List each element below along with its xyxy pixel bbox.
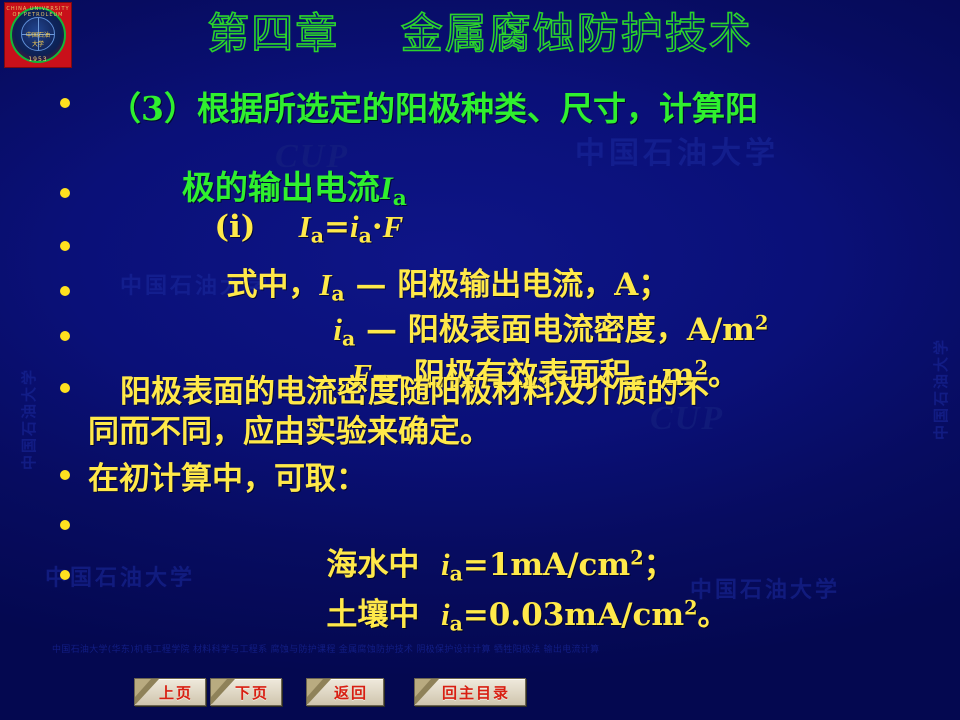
bullet-marker — [60, 383, 70, 393]
bullet-marker — [60, 286, 70, 296]
prev-page-label: 上页 — [135, 679, 205, 705]
superscript-2: 2 — [755, 311, 768, 334]
prev-page-button[interactable]: 上页 — [134, 678, 206, 706]
back-label: 返回 — [307, 679, 383, 705]
slide-canvas: 中国石油大学 CUP CUP 中国石油大学 中国石油大学 中国石油大学 中国石油… — [0, 0, 960, 720]
bullet-marker — [60, 570, 70, 580]
main-menu-button[interactable]: 回主目录 — [414, 678, 526, 706]
main-menu-label: 回主目录 — [415, 679, 525, 705]
bullet-9-prefix: 土壤中 — [326, 597, 441, 633]
superscript-2: 2 — [684, 596, 697, 619]
bullet-marker — [60, 241, 70, 251]
bullet-marker — [60, 470, 70, 480]
next-page-button[interactable]: 下页 — [210, 678, 282, 706]
bullet-marker — [60, 188, 70, 198]
back-button[interactable]: 返回 — [306, 678, 384, 706]
bullet-9-value: =0.03mA/cm — [463, 597, 684, 633]
bullet-7-line: 在初计算中，可取： — [88, 453, 367, 498]
watermark-text-vertical: 中国石油大学 — [930, 338, 951, 440]
bullet-9-tail: 。 — [698, 597, 729, 633]
bullet-5-tail: 。 — [708, 357, 739, 393]
watermark-text: 中国石油大学 — [575, 128, 779, 172]
watermark-text-vertical: 中国石油大学 — [18, 368, 39, 470]
bullet-6-line-2: 同而不同，应由实验来确定。 — [88, 406, 491, 451]
next-page-label: 下页 — [211, 679, 281, 705]
bullet-6-line-1: 阳极表面的电流密度随阳极材料及介质的不 — [120, 366, 709, 411]
bullet-marker — [60, 98, 70, 108]
bullet-marker — [60, 520, 70, 530]
bullet-marker — [60, 331, 70, 341]
slide-title: 第四章 金属腐蚀防护技术 — [0, 8, 960, 60]
navigation-bar: 上页 下页 返回 回主目录 2020/6/30 180 — [0, 672, 960, 720]
subscript-a: a — [450, 612, 463, 636]
variable-i: i — [441, 597, 450, 632]
footer-watermark-strip: 中国石油大学(华东)机电工程学院 材料科学与工程系 腐蚀与防护课程 金属腐蚀防护… — [52, 642, 908, 658]
